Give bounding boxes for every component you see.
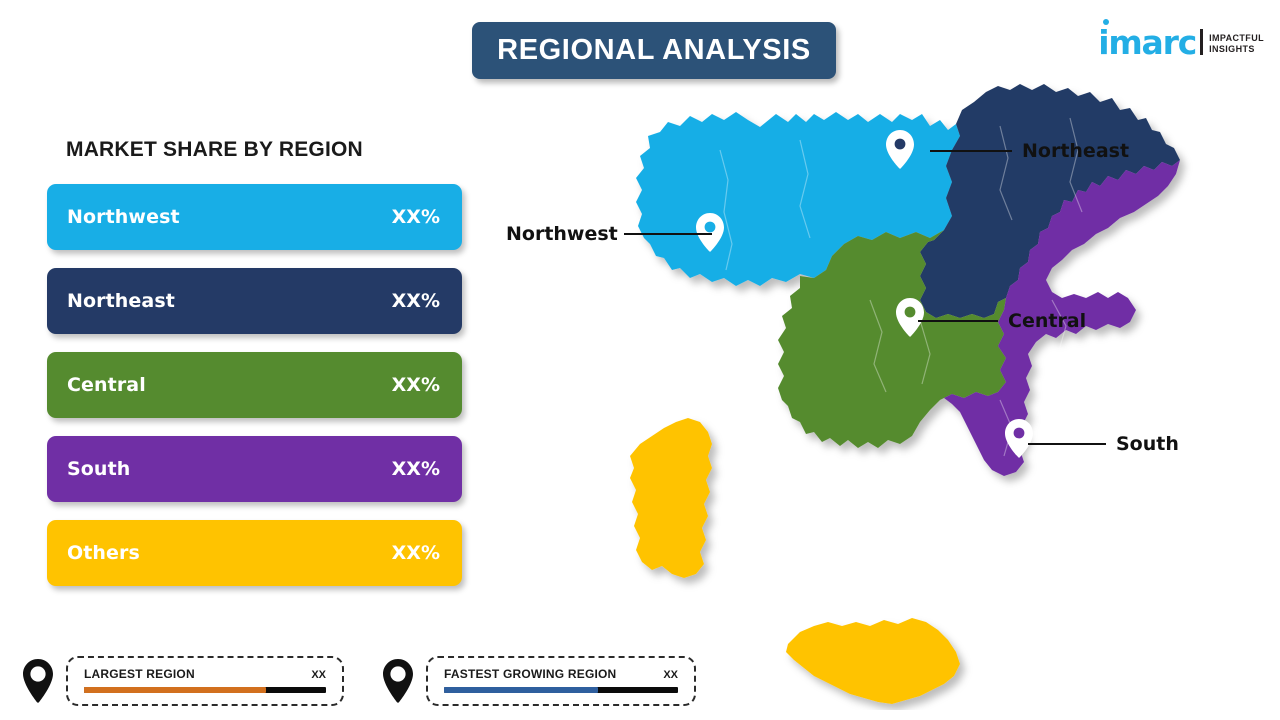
logo-tagline-line2: INSIGHTS [1209,44,1264,55]
leader-line [930,150,1012,152]
logo-tagline-line1: IMPACTFUL [1209,33,1264,44]
region-label: Central [67,374,146,396]
region-share-list: Northwest XX% Northeast XX% Central XX% … [47,184,462,604]
region-bar-central[interactable]: Central XX% [47,352,462,418]
logo-divider [1200,29,1203,55]
leader-line [624,233,712,235]
italy-map-svg [600,70,1220,710]
fastest-growing-region-label: FASTEST GROWING REGION [444,667,616,681]
callout-label: South [1116,433,1179,455]
page-title: REGIONAL ANALYSIS [497,34,811,67]
leader-line [1028,443,1106,445]
region-bar-south[interactable]: South XX% [47,436,462,502]
logo-mark: imarc [1098,28,1196,58]
slide-canvas: REGIONAL ANALYSIS imarc IMPACTFUL INSIGH… [0,0,1280,720]
callout-label: Northwest [506,223,618,245]
italy-region-map [600,70,1220,710]
leader-line [918,320,998,322]
largest-region-indicator[interactable]: LARGEST REGION XX [18,656,344,706]
footer-indicators: LARGEST REGION XX FASTEST GROWING REGION… [18,656,696,706]
fastest-growing-region-progress-fill [444,687,598,693]
largest-region-label: LARGEST REGION [84,667,195,681]
callout-northwest[interactable]: Northwest [506,223,712,245]
callout-label: Central [1008,310,1086,332]
region-value: XX% [392,542,440,564]
callout-northeast[interactable]: Northeast [930,140,1129,162]
callout-central[interactable]: Central [918,310,1086,332]
largest-region-box: LARGEST REGION XX [66,656,344,706]
largest-region-progress-track [84,687,326,693]
imarc-logo: imarc IMPACTFUL INSIGHTS [1098,16,1264,58]
region-label: Northwest [67,206,180,228]
map-pin-icon [18,657,58,705]
market-share-heading: MARKET SHARE BY REGION [66,138,363,162]
region-value: XX% [392,374,440,396]
map-pin-icon [378,657,418,705]
region-value: XX% [392,206,440,228]
region-label: Others [67,542,140,564]
largest-region-value: XX [311,669,326,681]
region-label: South [67,458,130,480]
region-value: XX% [392,458,440,480]
region-bar-others[interactable]: Others XX% [47,520,462,586]
logo-wordmark: imarc [1098,28,1196,58]
map-region-sardinia[interactable] [630,418,712,578]
map-region-sicily[interactable] [786,618,960,704]
callout-label: Northeast [1022,140,1129,162]
largest-region-progress-fill [84,687,266,693]
region-bar-northwest[interactable]: Northwest XX% [47,184,462,250]
map-landmasses [630,84,1180,704]
region-bar-northeast[interactable]: Northeast XX% [47,268,462,334]
logo-tagline: IMPACTFUL INSIGHTS [1209,33,1264,56]
region-label: Northeast [67,290,175,312]
callout-south[interactable]: South [1028,433,1179,455]
region-value: XX% [392,290,440,312]
